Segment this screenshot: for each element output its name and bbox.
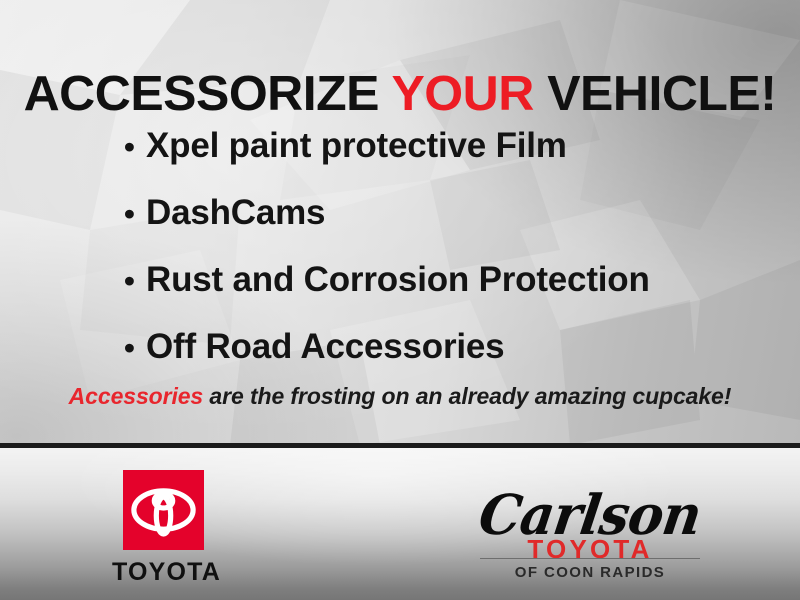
list-item-label: Rust and Corrosion Protection — [146, 260, 650, 299]
list-item: •Off Road Accessories — [124, 313, 724, 380]
dealer-rule — [480, 558, 700, 559]
list-item: •Xpel paint protective Film — [124, 112, 724, 179]
accessories-list: •Xpel paint protective Film •DashCams •R… — [124, 112, 724, 380]
tagline-rest: are the frosting on an already amazing c… — [203, 383, 731, 409]
carlson-toyota-logo: Carlson TOYOTA OF COON RAPIDS — [470, 482, 710, 588]
dealer-brand-label: TOYOTA — [470, 534, 710, 565]
list-item: •Rust and Corrosion Protection — [124, 246, 724, 313]
accessorize-vehicle-banner: ACCESSORIZE YOUR VEHICLE! •Xpel paint pr… — [0, 0, 800, 600]
bullet-dot-icon: • — [124, 113, 146, 180]
dealer-location-label: OF COON RAPIDS — [470, 564, 710, 581]
bullet-dot-icon: • — [124, 247, 146, 314]
list-item-label: DashCams — [146, 193, 325, 232]
main-panel: ACCESSORIZE YOUR VEHICLE! •Xpel paint pr… — [0, 0, 800, 445]
bullet-dot-icon: • — [124, 314, 146, 381]
tagline: Accessories are the frosting on an alrea… — [0, 381, 800, 411]
toyota-logo: TOYOTA — [112, 466, 214, 590]
list-item: •DashCams — [124, 179, 724, 246]
toyota-emblem-icon — [123, 470, 204, 550]
tagline-highlight: Accessories — [69, 383, 203, 409]
toyota-wordmark: TOYOTA — [112, 558, 214, 587]
list-item-label: Xpel paint protective Film — [146, 126, 567, 165]
list-item-label: Off Road Accessories — [146, 327, 504, 366]
bullet-dot-icon: • — [124, 180, 146, 247]
